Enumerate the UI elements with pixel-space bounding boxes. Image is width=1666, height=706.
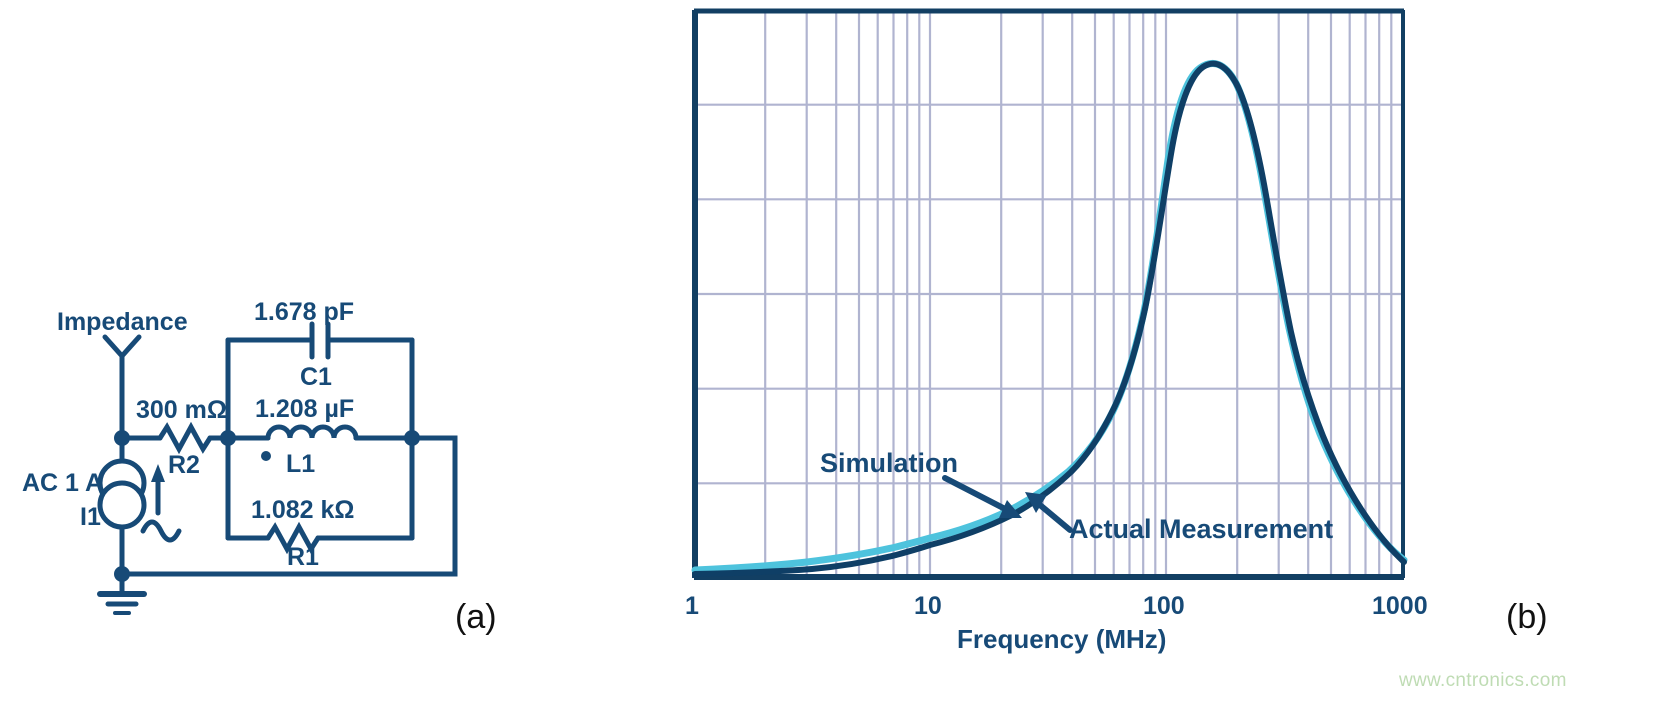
node-dot-mid bbox=[220, 430, 236, 446]
source-refdes-label: I1 bbox=[80, 503, 101, 531]
xtick-label-10: 10 bbox=[914, 592, 942, 620]
r2-value-label: 300 mΩ bbox=[136, 396, 227, 424]
circuit-schematic bbox=[100, 324, 455, 613]
c1-value-label: 1.678 pF bbox=[254, 298, 354, 326]
node-dot-ground bbox=[114, 566, 130, 582]
annotation-simulation-label: Simulation bbox=[820, 448, 958, 478]
figure-svg: Impedance 1.678 pF C1 1.208 µF L1 1.082 … bbox=[0, 0, 1666, 706]
xtick-label-1: 1 bbox=[685, 592, 699, 620]
panel-a-label: (a) bbox=[455, 598, 497, 637]
x-axis-title: Frequency (MHz) bbox=[957, 624, 1166, 654]
watermark-text: www.cntronics.com bbox=[1399, 670, 1567, 692]
r1-refdes-label: R1 bbox=[287, 543, 319, 571]
r2-refdes-label: R2 bbox=[168, 451, 200, 479]
x-axis-tick-labels: 1 10 100 1000 bbox=[685, 592, 1428, 620]
impedance-plot: Simulation Actual Measurement 1 10 100 1… bbox=[685, 10, 1428, 654]
resistor-r2-symbol bbox=[160, 427, 210, 449]
c1-refdes-label: C1 bbox=[300, 363, 332, 391]
inductor-polarity-dot bbox=[261, 451, 271, 461]
source-value-label: AC 1 A bbox=[22, 469, 103, 497]
node-dot-left bbox=[114, 430, 130, 446]
figure-root: Impedance 1.678 pF C1 1.208 µF L1 1.082 … bbox=[0, 0, 1666, 706]
impedance-label: Impedance bbox=[57, 308, 188, 336]
node-dot-right bbox=[404, 430, 420, 446]
xtick-label-1000: 1000 bbox=[1372, 592, 1428, 620]
impedance-terminal-icon bbox=[105, 337, 139, 438]
l1-refdes-label: L1 bbox=[286, 450, 315, 478]
annotation-measurement-label: Actual Measurement bbox=[1069, 514, 1333, 544]
r1-value-label: 1.082 kΩ bbox=[251, 496, 354, 524]
xtick-label-100: 100 bbox=[1143, 592, 1185, 620]
l1-value-label: 1.208 µF bbox=[255, 395, 354, 423]
panel-b-label: (b) bbox=[1506, 598, 1548, 637]
inductor-l1-symbol bbox=[268, 427, 356, 438]
